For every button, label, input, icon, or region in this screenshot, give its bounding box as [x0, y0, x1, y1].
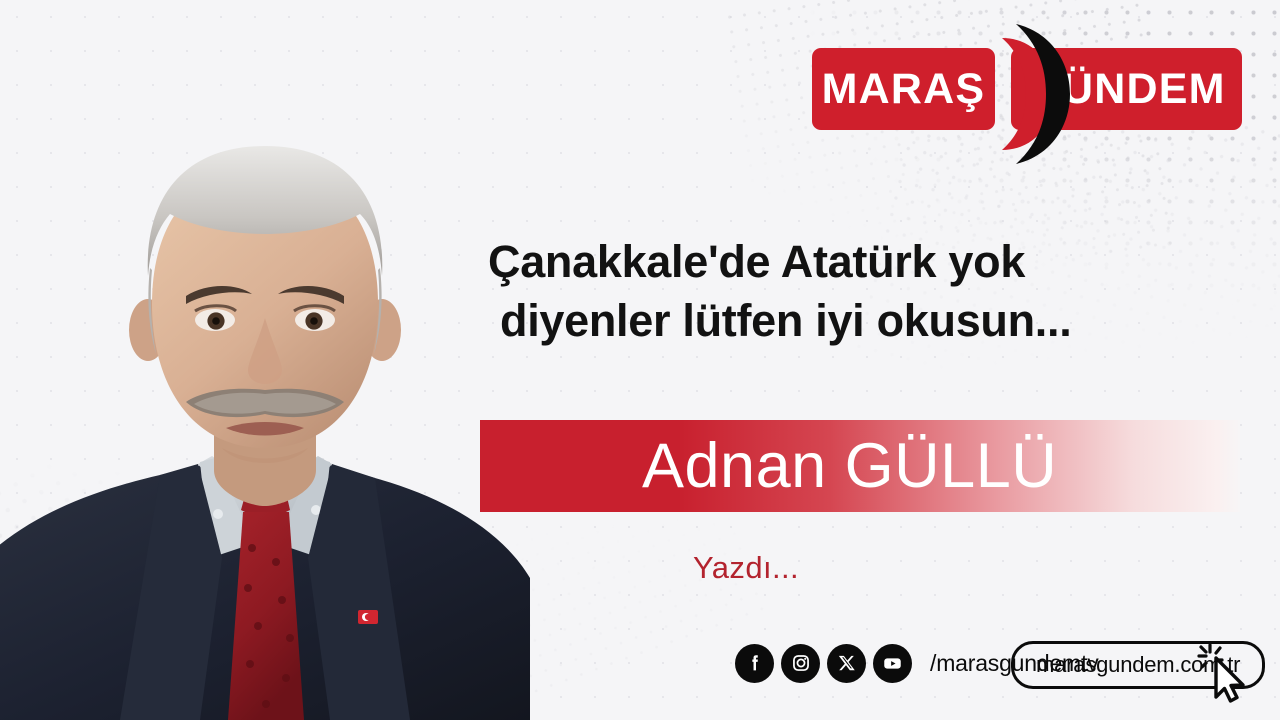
- author-subtitle: Yazdı...: [693, 550, 799, 586]
- x-icon[interactable]: [827, 644, 866, 683]
- news-card-canvas: MARAŞ GÜNDEM: [0, 0, 1280, 720]
- youtube-icon[interactable]: [873, 644, 912, 683]
- instagram-icon[interactable]: [781, 644, 820, 683]
- facebook-icon[interactable]: [735, 644, 774, 683]
- author-name-banner: Adnan GÜLLÜ: [480, 420, 1240, 512]
- click-cursor-icon: [1196, 642, 1254, 704]
- headline-line-2: diyenler lütfen iyi okusun...: [500, 291, 1188, 350]
- site-logo[interactable]: MARAŞ GÜNDEM: [812, 48, 1242, 144]
- page-title: Çanakkale'de Atatürk yok diyenler lütfen…: [488, 232, 1188, 351]
- author-portrait-photo: [0, 118, 530, 720]
- headline-line-1: Çanakkale'de Atatürk yok: [488, 232, 1188, 291]
- author-name: Adnan GÜLLÜ: [642, 435, 1057, 498]
- crescent-swoosh-icon: [958, 16, 1078, 171]
